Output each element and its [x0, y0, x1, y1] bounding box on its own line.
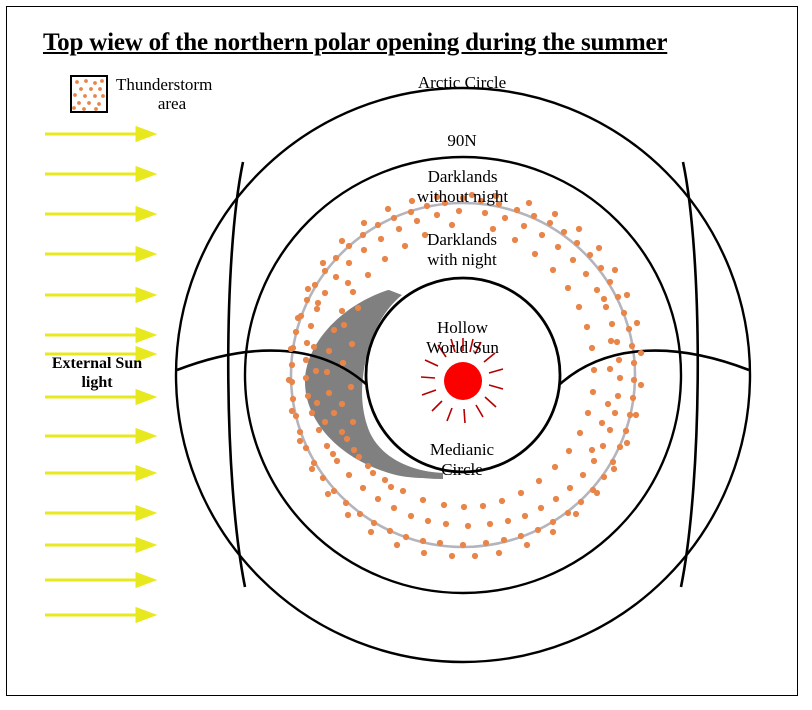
diagram-frame: Top wiew of the northern polar opening d… [6, 6, 798, 696]
label-medianic-circle-line2: Circle [407, 460, 517, 480]
label-darklands-with-night: Darklands with night [402, 230, 522, 270]
label-90n: 90N [417, 131, 507, 151]
meridian-arc-right [681, 162, 698, 587]
label-medianic-circle-line1: Medianic [407, 440, 517, 460]
label-arctic-circle: Arctic Circle [402, 73, 522, 93]
label-hollow-world-sun-line2: World Sun [405, 338, 520, 358]
meridian-arc-left [228, 162, 245, 587]
label-hollow-world-sun: Hollow World Sun [405, 318, 520, 358]
label-hollow-world-sun-line1: Hollow [405, 318, 520, 338]
label-arctic-circle-text: Arctic Circle [418, 73, 506, 92]
label-darklands-with-night-line2: with night [402, 250, 522, 270]
label-medianic-circle: Medianic Circle [407, 440, 517, 480]
label-darklands-without-night-line1: Darklands [400, 167, 525, 187]
hollow-world-sun-disk [444, 362, 482, 400]
label-90n-text: 90N [447, 131, 476, 150]
polar-opening-diagram [7, 7, 799, 697]
label-darklands-without-night-line2: without night [400, 187, 525, 207]
label-darklands-with-night-line1: Darklands [402, 230, 522, 250]
horizon-arc-right [560, 351, 749, 384]
label-darklands-without-night: Darklands without night [400, 167, 525, 207]
diagram-page: Top wiew of the northern polar opening d… [0, 0, 812, 710]
